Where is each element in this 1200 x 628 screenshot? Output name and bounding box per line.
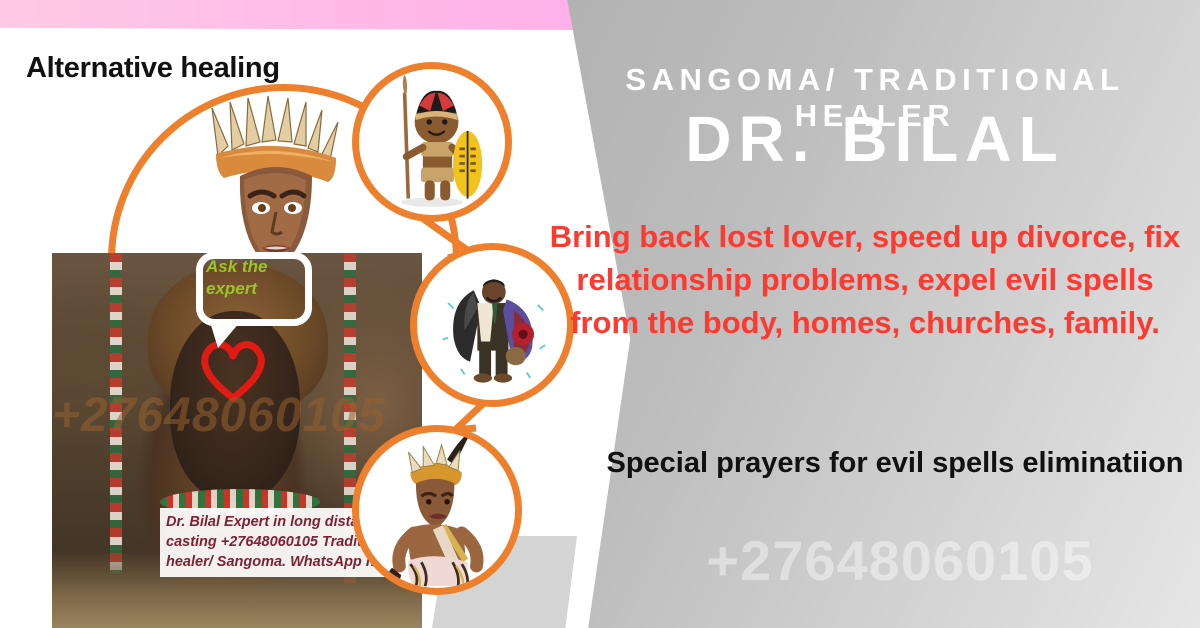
right-watermark-phone: +27648060105 bbox=[600, 528, 1200, 593]
speech-bubble-tail bbox=[210, 322, 240, 348]
poster-canvas: Alternative healing bbox=[0, 0, 1200, 628]
photo-watermark-phone: +27648060105 bbox=[52, 388, 386, 443]
healer-name: DR. BILAL bbox=[560, 106, 1190, 172]
zulu-warrior-icon bbox=[359, 69, 505, 215]
crouching-dancer-icon bbox=[359, 432, 515, 588]
special-offer-text: Special prayers for evil spells eliminat… bbox=[600, 442, 1190, 485]
services-text: Bring back lost lover, speed up divorce,… bbox=[540, 215, 1190, 344]
speech-bubble-text: Ask the expert bbox=[206, 256, 310, 300]
circle-zulu-warrior[interactable] bbox=[352, 62, 512, 222]
circle-crouching-dancer[interactable] bbox=[352, 425, 522, 595]
